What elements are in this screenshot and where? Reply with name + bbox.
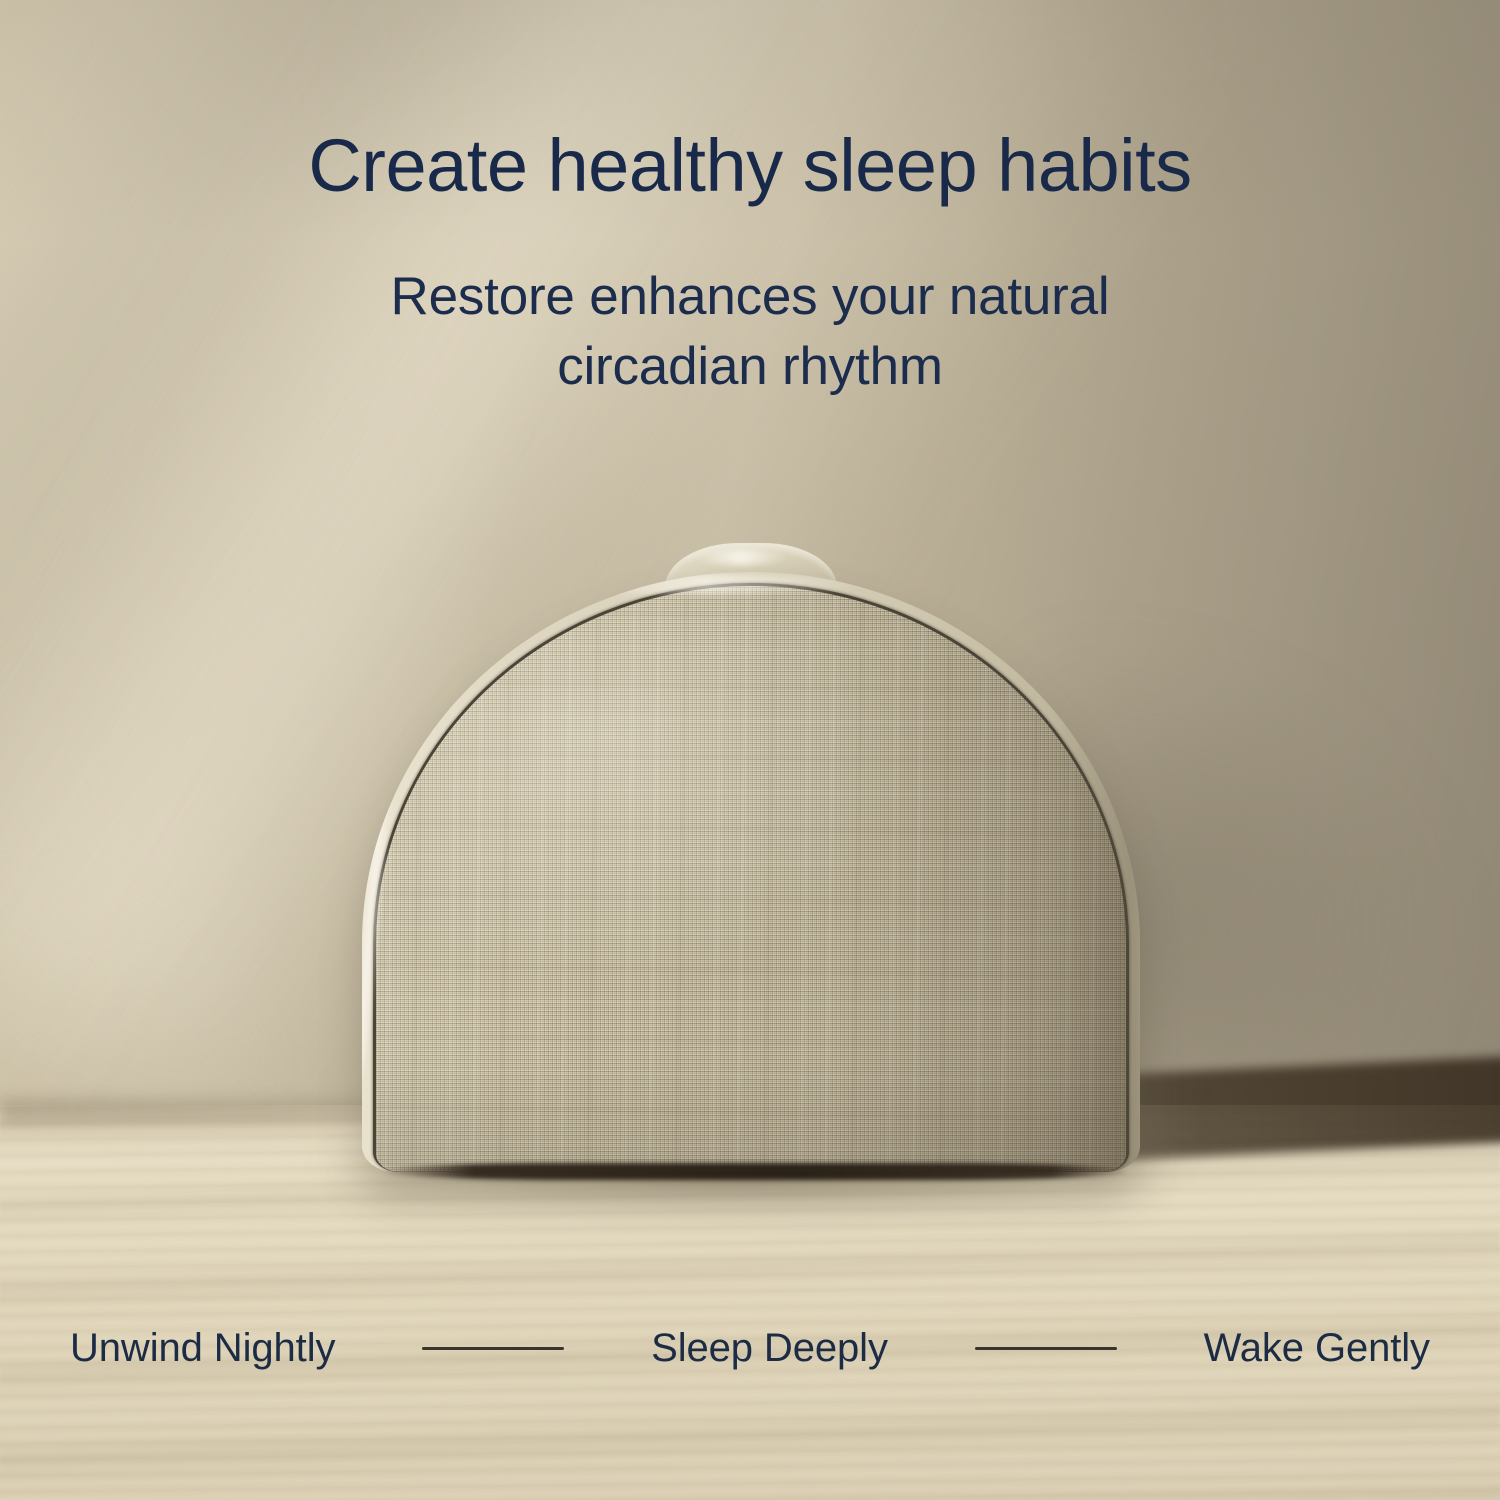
subtitle-line-1: Restore enhances your natural <box>250 262 1250 332</box>
caption-sleep-deeply: Sleep Deeply <box>651 1328 888 1368</box>
caption-unwind-nightly: Unwind Nightly <box>70 1328 335 1368</box>
page-title: Create healthy sleep habits <box>0 125 1500 206</box>
product-marketing-image: Create healthy sleep habits Restore enha… <box>0 0 1500 1500</box>
caption-divider-1 <box>422 1347 564 1350</box>
fabric-light-falloff <box>376 586 1126 1172</box>
fabric-bottom-shading <box>376 1052 1126 1172</box>
fabric-vertical-slubs <box>376 586 1126 1172</box>
linen-fabric-panel <box>376 586 1126 1172</box>
page-subtitle: Restore enhances your natural circadian … <box>250 262 1250 402</box>
caption-wake-gently: Wake Gently <box>1204 1328 1430 1368</box>
fabric-horizontal-slubs <box>376 586 1126 1172</box>
feature-caption-row: Unwind Nightly Sleep Deeply Wake Gently <box>70 1328 1430 1368</box>
product-device <box>362 540 1140 1172</box>
caption-divider-2 <box>975 1347 1117 1350</box>
knob-highlight <box>693 550 789 565</box>
device-shell <box>362 572 1140 1172</box>
subtitle-line-2: circadian rhythm <box>250 332 1250 402</box>
